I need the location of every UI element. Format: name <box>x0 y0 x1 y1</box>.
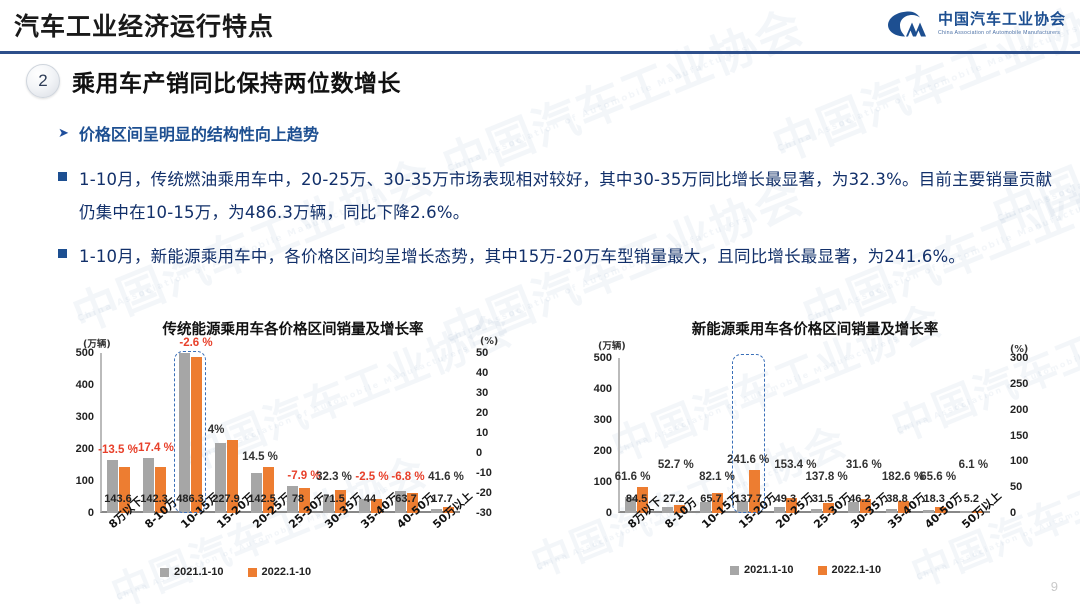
chart-growth-label: 182.6 % <box>882 471 924 483</box>
legend-label: 2022.1-10 <box>262 566 312 578</box>
y-axis-right: 50403020100-10-20-30 <box>476 353 510 513</box>
chart-growth-label: 241.6 % <box>727 454 769 466</box>
bullet-square-icon <box>58 249 67 258</box>
bullet-item: 1-10月，新能源乘用车中，各价格区间均呈增长态势，其中15万-20万车型销量最… <box>58 240 1058 273</box>
legend-swatch-icon <box>160 568 169 577</box>
chart-growth-label: 14.5 % <box>242 451 278 463</box>
subsection-heading: ➤ 价格区间呈明显的结构性向上趋势 <box>58 121 319 145</box>
legend-item[interactable]: 2022.1-10 <box>248 566 312 578</box>
y-axis-left-tick: 300 <box>578 414 612 426</box>
chart-growth-label: 31.6 % <box>846 459 882 471</box>
chart-title: 传统能源乘用车各价格区间销量及增长率 <box>48 318 538 339</box>
legend-label: 2022.1-10 <box>832 564 882 576</box>
chart-growth-label: -2.5 % <box>355 471 388 483</box>
slide-header: 汽车工业经济运行特点 中国汽车工业协会 China Association of… <box>0 0 1080 56</box>
page-number: 9 <box>1051 579 1058 594</box>
y-axis-left-tick: 200 <box>578 445 612 457</box>
chart-traditional-energy: 传统能源乘用车各价格区间销量及增长率(万辆)(%)010020030040050… <box>48 318 538 593</box>
bullet-text: 1-10月，传统燃油乘用车中，20-25万、30-35万市场表现相对较好，其中3… <box>79 163 1058 229</box>
y-axis-right-tick: 40 <box>476 367 510 379</box>
chart-growth-label: 32.3 % <box>316 471 352 483</box>
section-heading: 2 乘用车产销同比保持两位数增长 <box>26 64 401 98</box>
chart-growth-label: 41.6 % <box>428 471 464 483</box>
bullet-item: 1-10月，传统燃油乘用车中，20-25万、30-35万市场表现相对较好，其中3… <box>58 163 1058 229</box>
chevron-right-icon: ➤ <box>58 125 69 141</box>
caam-logo-icon <box>884 8 930 40</box>
legend-swatch-icon <box>730 566 739 575</box>
chart-growth-label: 4% <box>208 424 225 436</box>
chart-legend: 2021.1-102022.1-10 <box>730 564 881 576</box>
chart-bar <box>107 460 118 513</box>
y-axis-right-tick: 20 <box>476 407 510 419</box>
y-axis-right-tick: 30 <box>476 387 510 399</box>
y-axis-left-tick: 0 <box>578 507 612 519</box>
bullet-text: 1-10月，新能源乘用车中，各价格区间均呈增长态势，其中15万-20万车型销量最… <box>79 240 965 273</box>
logo-name-cn: 中国汽车工业协会 <box>938 12 1066 27</box>
chart-unit-left: (万辆) <box>598 338 626 352</box>
y-axis-left-tick: 400 <box>60 379 94 391</box>
bullet-square-icon <box>58 172 67 181</box>
chart-bar <box>179 353 190 513</box>
y-axis-left: 0100200300400500 <box>60 353 94 513</box>
chart-unit-right: (%) <box>480 336 498 347</box>
legend-label: 2021.1-10 <box>174 566 224 578</box>
y-axis-left-tick: 400 <box>578 383 612 395</box>
y-axis-right-tick: 10 <box>476 427 510 439</box>
chart-title: 新能源乘用车各价格区间销量及增长率 <box>560 318 1070 339</box>
y-axis-left: 0100200300400500 <box>578 358 612 513</box>
chart-growth-label: 137.8 % <box>805 471 847 483</box>
chart-growth-label: -13.5 % <box>98 444 138 456</box>
y-axis-left-tick: 0 <box>60 507 94 519</box>
chart-growth-label: 82.1 % <box>699 471 735 483</box>
legend-label: 2021.1-10 <box>744 564 794 576</box>
y-axis-left-tick: 500 <box>60 347 94 359</box>
y-axis-right-tick: 150 <box>1010 430 1044 442</box>
header-divider <box>0 51 1080 54</box>
chart-growth-label: 61.6 % <box>615 471 651 483</box>
legend-item[interactable]: 2021.1-10 <box>160 566 224 578</box>
watermark-subtext: China Association of Automobile Manufact… <box>446 43 751 174</box>
chart-growth-label: 153.4 % <box>774 459 816 471</box>
y-axis-right-tick: 50 <box>476 347 510 359</box>
page-title: 汽车工业经济运行特点 <box>14 7 274 43</box>
y-axis-left-tick: 300 <box>60 411 94 423</box>
y-axis-right: 300250200150100500 <box>1010 358 1044 513</box>
chart-legend: 2021.1-102022.1-10 <box>160 566 311 578</box>
y-axis-right-tick: 0 <box>476 447 510 459</box>
chart-growth-label: -17.4 % <box>134 442 174 454</box>
y-axis-right-tick: 100 <box>1010 455 1044 467</box>
section-number-badge: 2 <box>26 64 60 98</box>
y-axis-right-tick: 300 <box>1010 352 1044 364</box>
slide-root: 中国汽车工业协会China Association of Automobile … <box>0 0 1080 604</box>
chart-growth-label: -6.8 % <box>391 471 424 483</box>
y-axis-right-tick: 200 <box>1010 404 1044 416</box>
y-axis-right-tick: -30 <box>476 507 510 519</box>
chart-growth-label: 52.7 % <box>658 459 694 471</box>
chart-growth-label: 65.6 % <box>920 471 956 483</box>
organization-logo: 中国汽车工业协会 China Association of Automobile… <box>884 8 1066 40</box>
y-axis-left-tick: 100 <box>60 475 94 487</box>
section-title: 乘用车产销同比保持两位数增长 <box>72 64 401 98</box>
y-axis-right-tick: 50 <box>1010 481 1044 493</box>
chart-growth-label: 6.1 % <box>959 459 988 471</box>
legend-swatch-icon <box>248 568 257 577</box>
chart-new-energy: 新能源乘用车各价格区间销量及增长率(万辆)(%)0100200300400500… <box>560 318 1070 593</box>
y-axis-right-tick: 0 <box>1010 507 1044 519</box>
y-axis-left-tick: 500 <box>578 352 612 364</box>
y-axis-right-tick: -10 <box>476 467 510 479</box>
logo-name-en: China Association of Automobile Manufact… <box>938 31 1066 36</box>
y-axis-right-tick: 250 <box>1010 378 1044 390</box>
legend-swatch-icon <box>818 566 827 575</box>
legend-item[interactable]: 2021.1-10 <box>730 564 794 576</box>
y-axis-left-tick: 200 <box>60 443 94 455</box>
chart-bar <box>191 357 202 513</box>
subsection-title: 价格区间呈明显的结构性向上趋势 <box>79 121 319 145</box>
y-axis-right-tick: -20 <box>476 487 510 499</box>
y-axis-left-tick: 100 <box>578 476 612 488</box>
chart-growth-label: -2.6 % <box>179 337 212 349</box>
logo-text: 中国汽车工业协会 China Association of Automobile… <box>938 12 1066 36</box>
legend-item[interactable]: 2022.1-10 <box>818 564 882 576</box>
